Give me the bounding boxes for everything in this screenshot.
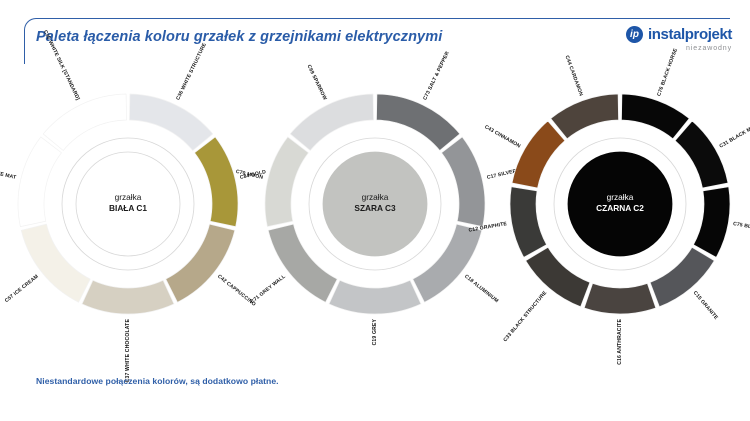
donut-svg (8, 84, 248, 324)
donut-segment[interactable] (265, 137, 308, 227)
donut-center-disc (323, 152, 427, 256)
color-wheel-czarna-c2: grzałkaCZARNA C2C76 BLACK HORSEC31 BLACK… (500, 84, 740, 324)
donut-segment[interactable] (584, 283, 656, 314)
donut-segment[interactable] (268, 224, 337, 302)
donut-segment[interactable] (376, 94, 459, 150)
donut-segment[interactable] (551, 94, 619, 139)
donut-segment[interactable] (675, 121, 728, 188)
donut-segment[interactable] (693, 187, 730, 258)
donut-segment[interactable] (329, 280, 421, 314)
donut-svg (255, 84, 495, 324)
donut-svg (500, 84, 740, 324)
donut-segment[interactable] (43, 94, 126, 150)
donut-segment[interactable] (21, 224, 90, 302)
donut-segment-label: C16 ANTHRACITE (617, 319, 623, 365)
footer-note: Niestandardowe połączenia kolorów, są do… (36, 376, 279, 386)
donut-segment[interactable] (526, 247, 590, 306)
donut-segment[interactable] (510, 187, 547, 258)
donut-segment[interactable] (195, 137, 238, 227)
instalprojekt-mark-icon: ip (626, 26, 643, 43)
brand-name: instalprojekt (648, 27, 732, 42)
color-wheel-biala-c1: grzałkaBIAŁA C1C36 WHITE STRUCTUREC84 GO… (8, 84, 248, 324)
donut-segment[interactable] (413, 224, 482, 302)
donut-segment[interactable] (650, 247, 714, 306)
donut-segment[interactable] (512, 121, 565, 188)
donut-center-disc (76, 152, 180, 256)
brand-logo: ip instalprojekt (626, 26, 732, 43)
donut-segment[interactable] (166, 224, 235, 302)
donut-segment[interactable] (129, 94, 212, 150)
donut-segment[interactable] (82, 280, 174, 314)
color-wheel-szara-c3: grzałkaSZARA C3C73 SALT & PEPPERC17 SILV… (255, 84, 495, 324)
donut-segment[interactable] (18, 137, 61, 227)
donut-segment-label: C37 WHITE CHOCOLATE (125, 319, 131, 382)
slide-canvas: Paleta łączenia koloru grzałek z grzejni… (0, 0, 750, 421)
brand-tagline: niezawodny (686, 45, 732, 52)
donut-segment[interactable] (442, 137, 485, 227)
donut-center-disc (568, 152, 672, 256)
donut-segment[interactable] (621, 94, 689, 139)
page-title: Paleta łączenia koloru grzałek z grzejni… (36, 29, 442, 45)
donut-segment[interactable] (290, 94, 373, 150)
